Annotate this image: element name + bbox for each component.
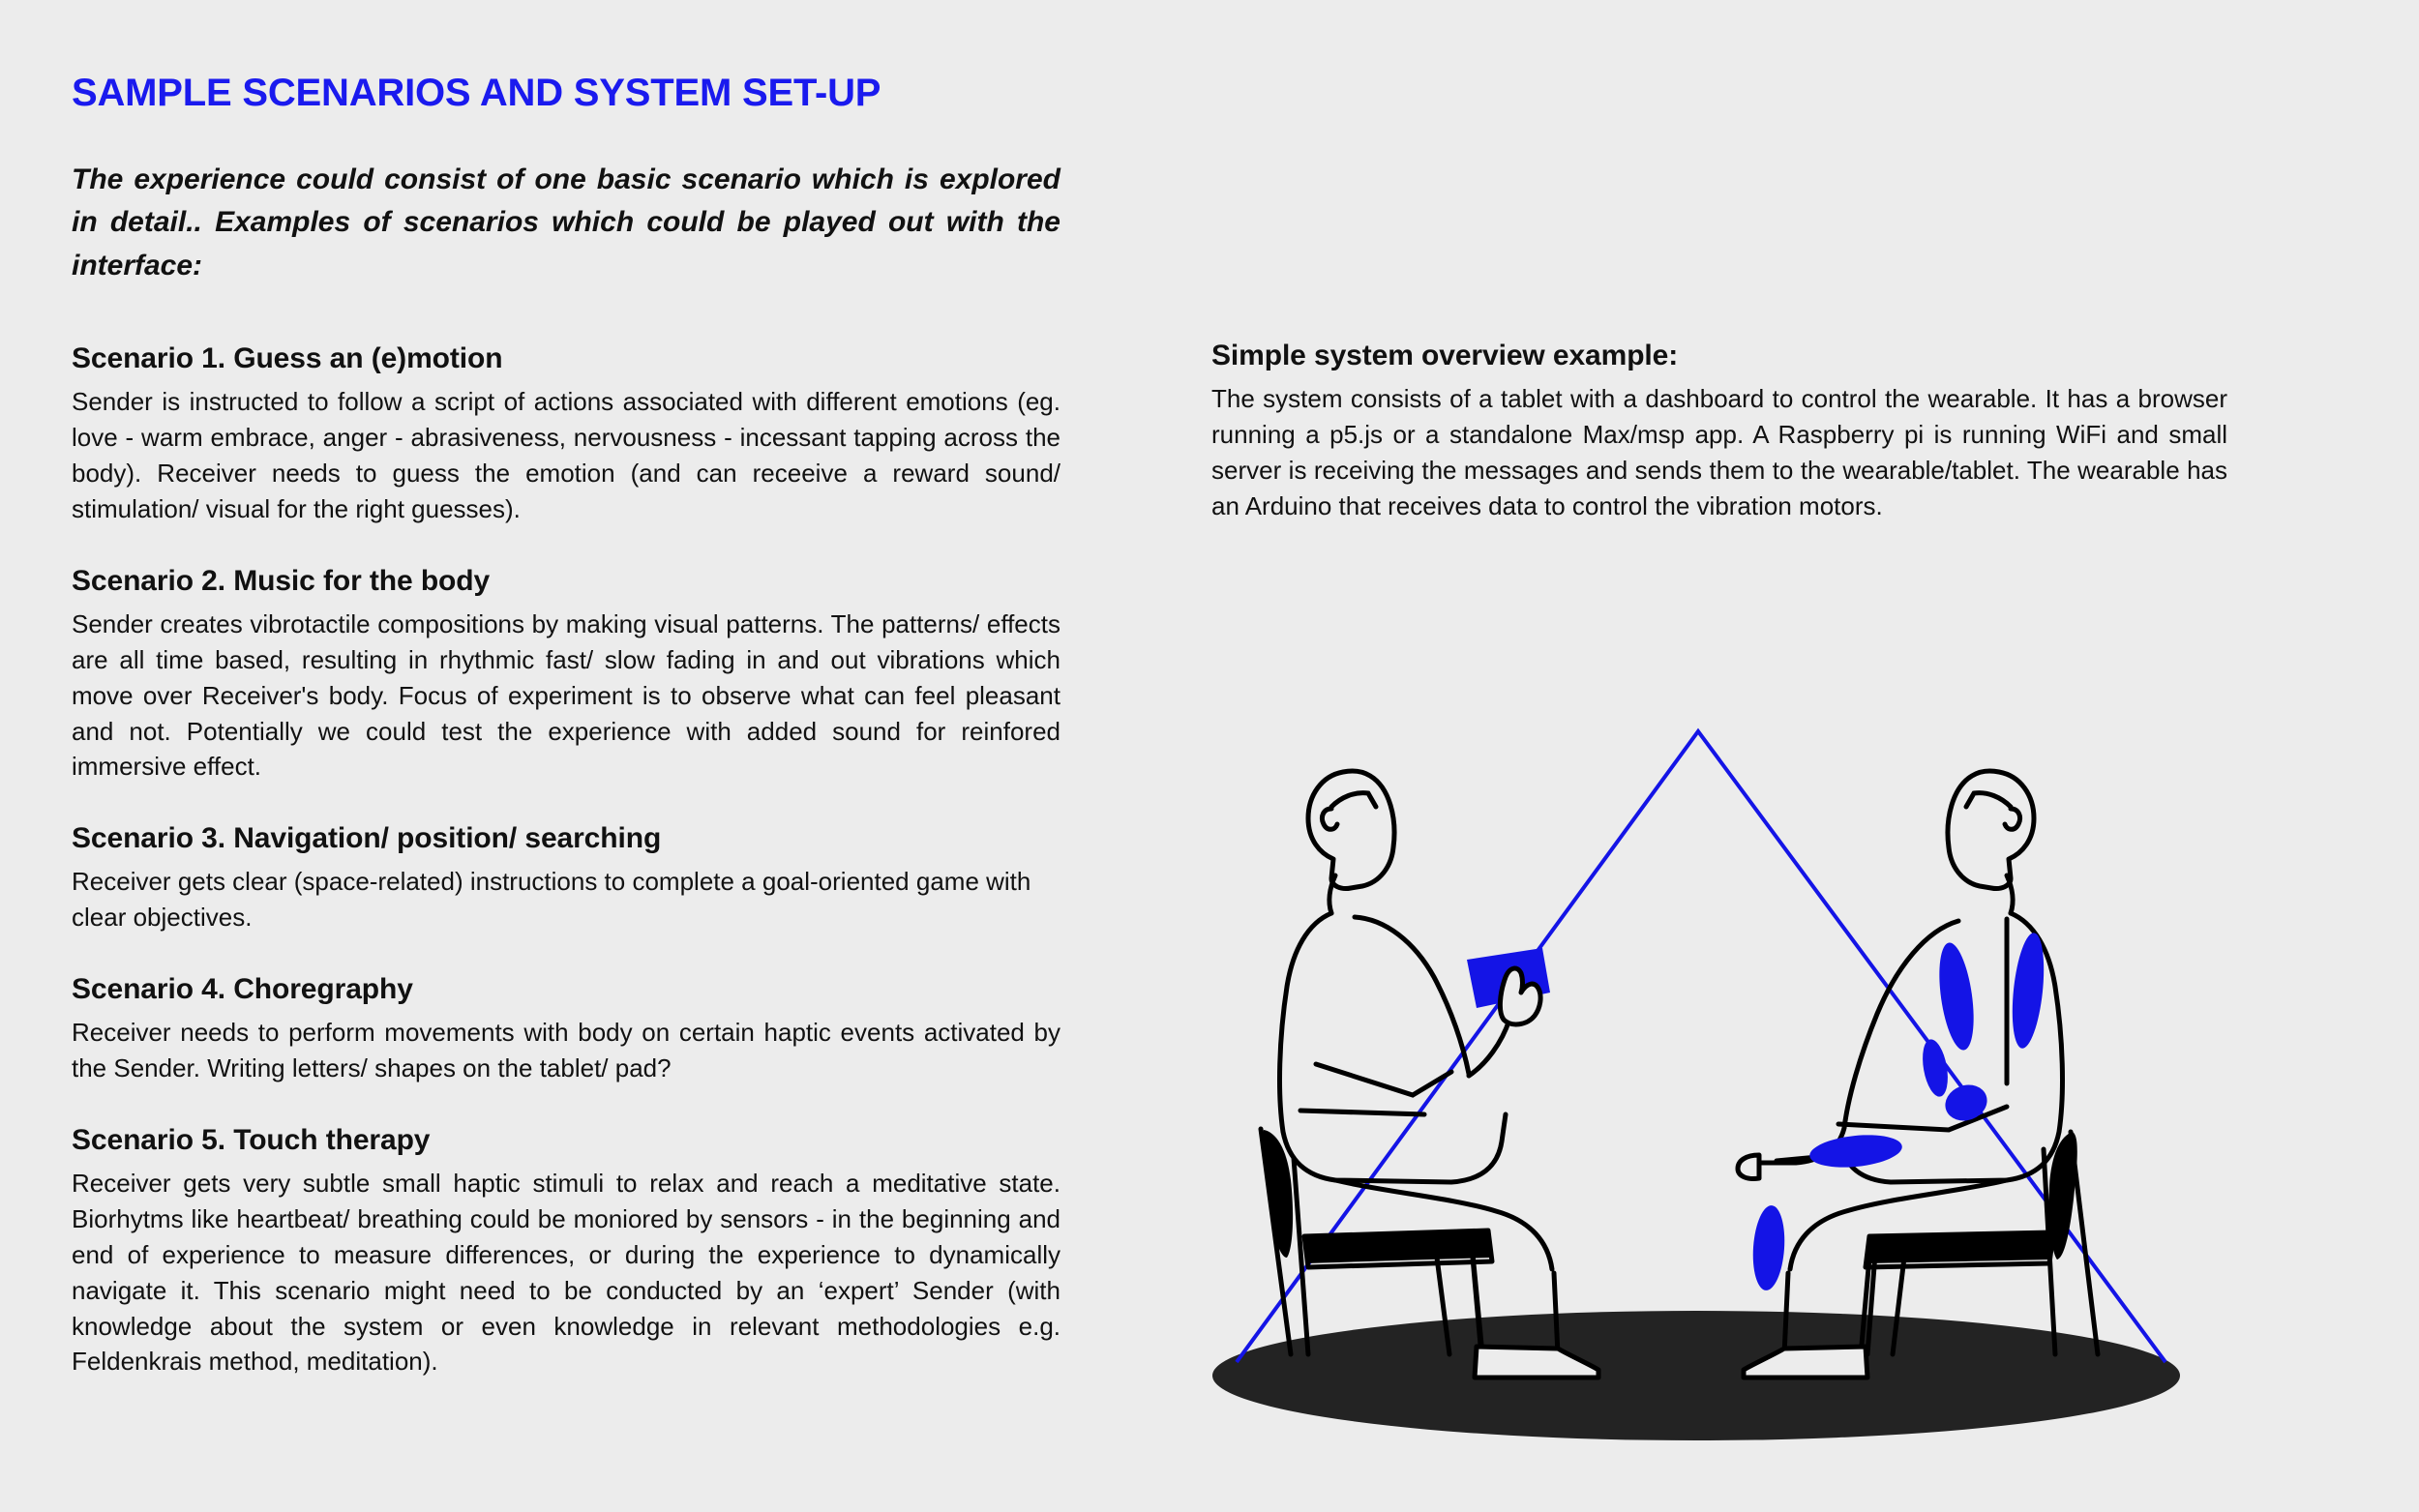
scenario-2-body: Sender creates vibrotactile compositions… xyxy=(72,607,1060,786)
sender-waist-crease xyxy=(1300,1111,1424,1114)
illustration-svg xyxy=(1161,677,2245,1480)
haptic-zone-thigh xyxy=(1750,1204,1787,1291)
left-text-column: SAMPLE SCENARIOS AND SYSTEM SET-UP The e… xyxy=(72,72,1060,1379)
scenario-block-2: Scenario 2. Music for the body Sender cr… xyxy=(72,564,1060,786)
system-overview-body: The system consists of a tablet with a d… xyxy=(1211,381,2227,524)
scenario-3-title: Scenario 3. Navigation/ position/ search… xyxy=(72,821,1060,856)
page-title: SAMPLE SCENARIOS AND SYSTEM SET-UP xyxy=(72,72,1060,114)
sender-upper-arm xyxy=(1355,917,1469,1074)
sender-arm-crease xyxy=(1316,1064,1451,1095)
scenario-1-title: Scenario 1. Guess an (e)motion xyxy=(72,341,1060,376)
slide-canvas: SAMPLE SCENARIOS AND SYSTEM SET-UP The e… xyxy=(0,0,2419,1512)
sender-figure xyxy=(1261,771,1598,1378)
system-overview-title: Simple system overview example: xyxy=(1211,339,2227,373)
haptic-zone-lap xyxy=(1808,1131,1904,1171)
system-overview-illustration xyxy=(1161,677,2245,1480)
stage-ellipse xyxy=(1212,1311,2180,1440)
scenario-4-body: Receiver needs to perform movements with… xyxy=(72,1015,1060,1086)
scenario-5-body: Receiver gets very subtle small haptic s… xyxy=(72,1166,1060,1379)
intro-paragraph: The experience could consist of one basi… xyxy=(72,159,1060,287)
sender-head xyxy=(1308,771,1394,888)
right-text-column: Simple system overview example: The syst… xyxy=(1211,339,2227,524)
scenario-block-3: Scenario 3. Navigation/ position/ search… xyxy=(72,821,1060,935)
scenario-4-title: Scenario 4. Choregraphy xyxy=(72,972,1060,1007)
haptic-zone-side xyxy=(1919,1037,1952,1098)
scenario-5-title: Scenario 5. Touch therapy xyxy=(72,1123,1060,1158)
scenario-block-4: Scenario 4. Choregraphy Receiver needs t… xyxy=(72,972,1060,1086)
scenario-2-title: Scenario 2. Music for the body xyxy=(72,564,1060,599)
receiver-figure xyxy=(1738,771,2098,1378)
scenario-block-1: Scenario 1. Guess an (e)motion Sender is… xyxy=(72,341,1060,527)
scenario-1-body: Sender is instructed to follow a script … xyxy=(72,384,1060,527)
sender-torso xyxy=(1280,913,1506,1182)
receiver-head xyxy=(1948,771,2034,888)
scenario-3-body: Receiver gets clear (space-related) inst… xyxy=(72,864,1060,935)
receiver-hand xyxy=(1738,1155,1759,1179)
haptic-zone-chest xyxy=(1933,940,1979,1052)
scenario-block-5: Scenario 5. Touch therapy Receiver gets … xyxy=(72,1123,1060,1379)
